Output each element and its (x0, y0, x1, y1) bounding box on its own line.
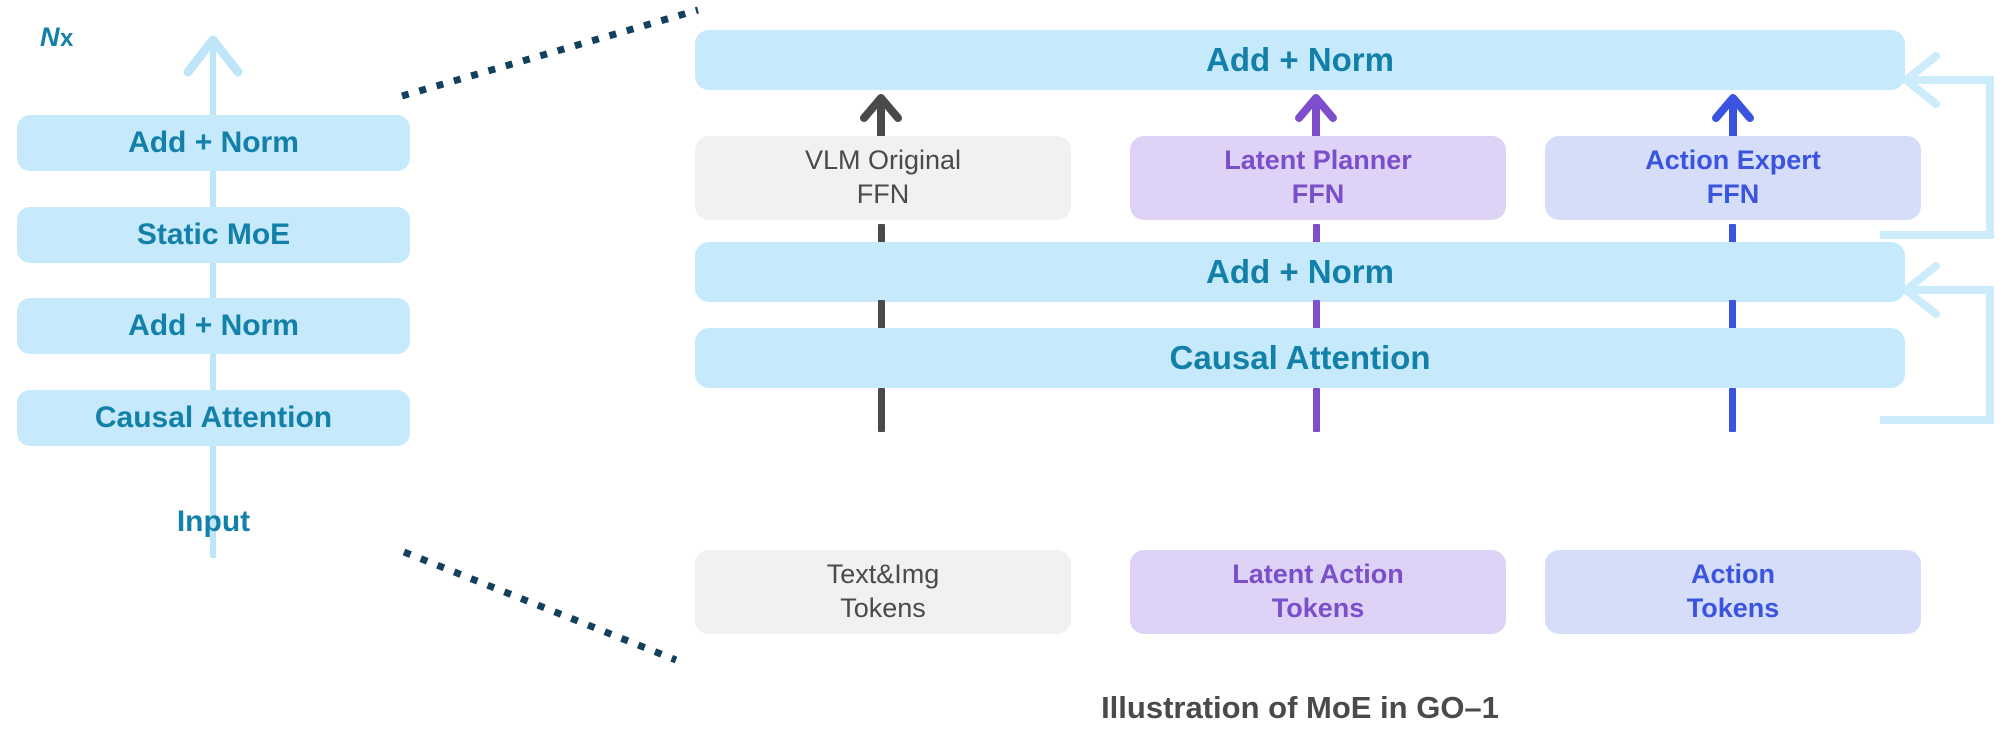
repeat-count-label: Nx (40, 22, 74, 53)
left-block-causal-attention[interactable]: Causal Attention (17, 390, 410, 446)
expert-label-line1: Latent Planner (1224, 144, 1412, 178)
left-block-add-norm-top[interactable]: Add + Norm (17, 115, 410, 171)
expert-box-vlm-original-ffn[interactable]: VLM Original FFN (695, 136, 1071, 220)
right-bar-causal-attention[interactable]: Causal Attention (695, 328, 1905, 388)
right-bar-add-norm-mid[interactable]: Add + Norm (695, 242, 1905, 302)
left-spine-arrow-icon (178, 28, 248, 88)
expert-box-action-expert-ffn[interactable]: Action Expert FFN (1545, 136, 1921, 220)
dotted-connector-bottom (390, 540, 690, 670)
expert-label-line2: FFN (1292, 178, 1344, 212)
expert-label-line2: FFN (1707, 178, 1759, 212)
repeat-count-x: x (60, 25, 74, 52)
expert-box-latent-planner-ffn[interactable]: Latent Planner FFN (1130, 136, 1506, 220)
token-box-text-img-tokens[interactable]: Text&Img Tokens (695, 550, 1071, 634)
dotted-connector-top (390, 0, 710, 110)
repeat-count-n: N (40, 22, 60, 52)
stub-action-tokens (1729, 388, 1736, 432)
stub-latent-action-tokens (1313, 388, 1320, 432)
expert-label-line1: Action Expert (1645, 144, 1821, 178)
figure-canvas: Nx Add + Norm Static MoE Add + Norm Caus… (0, 0, 2014, 748)
token-label-line1: Latent Action (1232, 558, 1404, 592)
token-label-line1: Action (1691, 558, 1775, 592)
left-input-label: Input (17, 505, 410, 539)
figure-caption: Illustration of MoE in GO–1 (695, 690, 1905, 726)
token-box-action-tokens[interactable]: Action Tokens (1545, 550, 1921, 634)
token-box-latent-action-tokens[interactable]: Latent Action Tokens (1130, 550, 1506, 634)
token-label-line2: Tokens (1687, 592, 1780, 626)
expert-label-line2: FFN (857, 178, 909, 212)
token-label-line2: Tokens (840, 592, 926, 626)
left-block-add-norm-bottom[interactable]: Add + Norm (17, 298, 410, 354)
token-label-line2: Tokens (1272, 592, 1365, 626)
stub-text-img-tokens (878, 388, 885, 432)
expert-label-line1: VLM Original (805, 144, 961, 178)
token-label-line1: Text&Img (827, 558, 940, 592)
left-block-static-moe[interactable]: Static MoE (17, 207, 410, 263)
right-bar-add-norm-top[interactable]: Add + Norm (695, 30, 1905, 90)
